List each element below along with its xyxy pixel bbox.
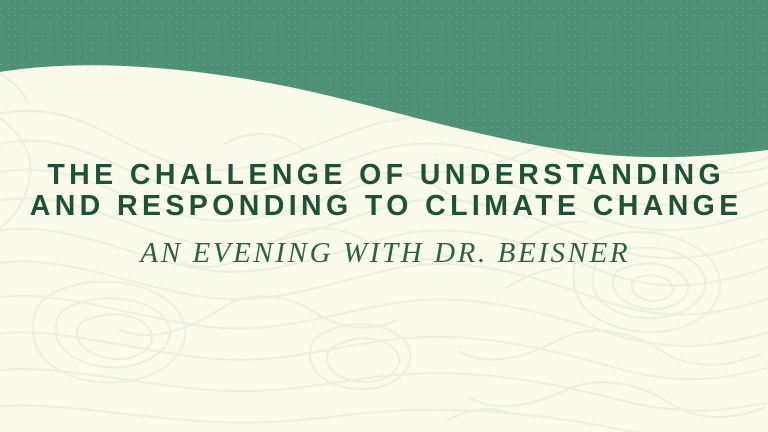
title-line-1: THE CHALLENGE OF UNDERSTANDING (0, 160, 768, 191)
title-text-block: THE CHALLENGE OF UNDERSTANDING AND RESPO… (0, 160, 768, 271)
title-slide: THE CHALLENGE OF UNDERSTANDING AND RESPO… (0, 0, 768, 432)
teal-wave-shape (0, 0, 768, 157)
title-line-2: AND RESPONDING TO CLIMATE CHANGE (0, 191, 768, 222)
subtitle: AN EVENING WITH DR. BEISNER (0, 235, 768, 271)
